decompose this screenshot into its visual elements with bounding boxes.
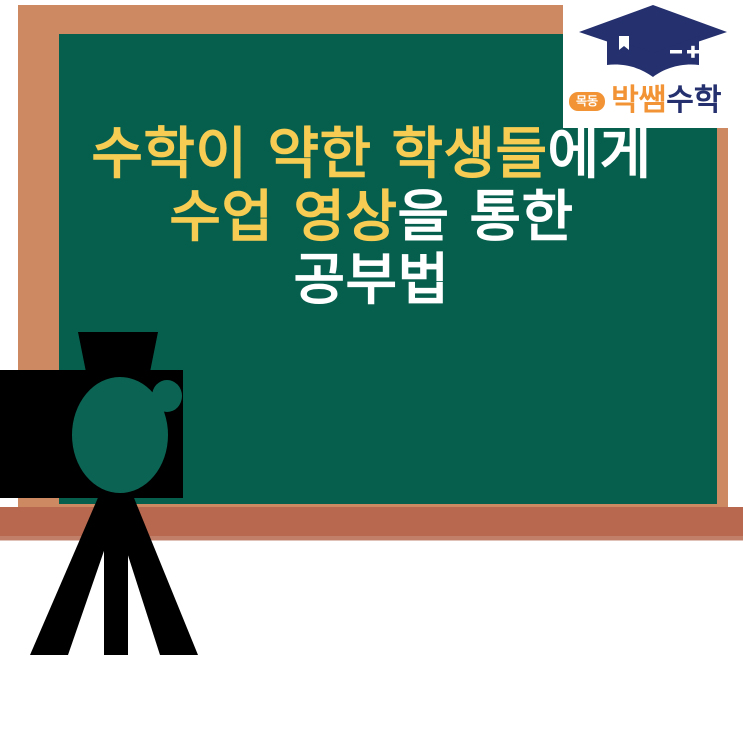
headline-line-2-highlight: 수업 영상 — [169, 185, 397, 250]
headline-line-3-plain: 공부법 — [293, 248, 449, 313]
chalkboard-ledge-shadow — [0, 536, 743, 541]
brand-wordmark: 목동 박쌤수학 — [569, 80, 739, 122]
headline-line-1: 수학이 약한 학생들에게 — [30, 126, 713, 183]
brand-name-part1: 박쌤 — [611, 83, 666, 118]
cap-plus-icon-v — [691, 46, 695, 58]
headline-line-1-plain: 에게 — [548, 122, 652, 187]
headline-block: 수학이 약한 학생들에게 수업 영상을 통한 공부법 — [30, 126, 713, 309]
headline-line-2-plain: 을 통한 — [398, 185, 574, 250]
headline-line-3: 공부법 — [30, 252, 713, 309]
brand-name-part2: 수학 — [666, 83, 721, 118]
cap-board — [579, 5, 727, 57]
headline-line-2: 수업 영상을 통한 — [30, 189, 713, 246]
brand-name: 박쌤수학 — [611, 86, 721, 116]
poster-canvas: 수학이 약한 학생들에게 수업 영상을 통한 공부법 — [0, 0, 743, 743]
cap-minus-icon — [670, 50, 682, 54]
brand-region-badge: 목동 — [569, 92, 605, 111]
graduation-cap-icon — [577, 3, 729, 79]
brand-logo-card[interactable]: 목동 박쌤수학 — [563, 0, 743, 128]
headline-line-1-highlight: 수학이 약한 학생들 — [91, 122, 547, 187]
